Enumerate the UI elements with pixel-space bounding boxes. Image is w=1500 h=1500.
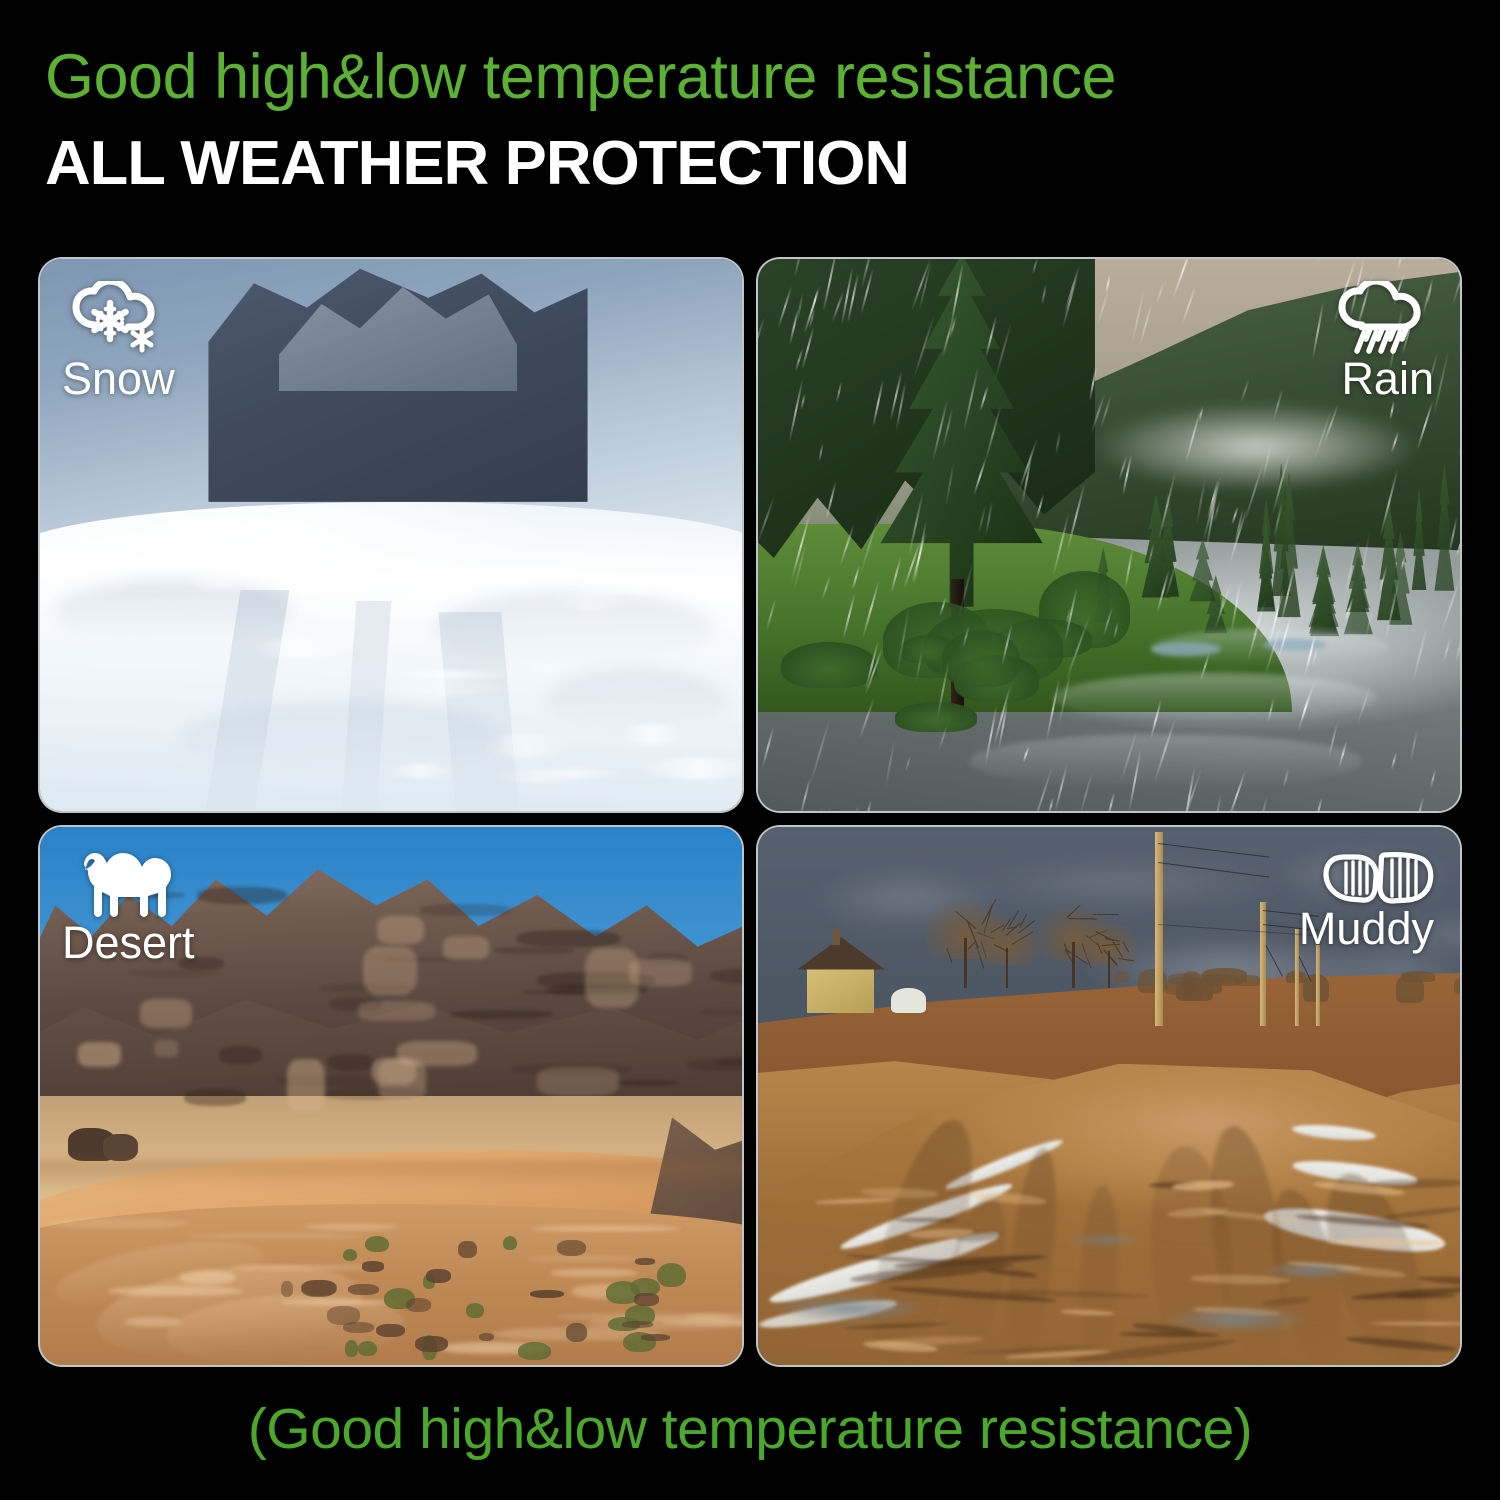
- scenery-detail: [154, 1040, 178, 1057]
- scenery-detail: [362, 1261, 384, 1271]
- scenery-detail: [1454, 977, 1460, 994]
- scenery-detail: [327, 1306, 360, 1325]
- scenery-detail: [328, 1054, 375, 1071]
- scenery-detail: [1138, 969, 1167, 994]
- scenery-detail: [479, 1333, 494, 1341]
- scenery-detail: [1401, 971, 1436, 982]
- scenery-detail: [969, 734, 1362, 789]
- weather-panel-desert: Desert: [40, 827, 742, 1365]
- scenery-detail: [517, 930, 620, 947]
- scenery-detail: [391, 591, 470, 614]
- scenery-detail: [219, 1046, 263, 1064]
- scenery-detail: [287, 1059, 325, 1112]
- scenery-detail: [553, 590, 627, 610]
- weather-panel-snow: Snow: [40, 259, 742, 811]
- scenery-detail: [54, 579, 293, 645]
- scenery-detail: [1316, 945, 1320, 1026]
- scenery-detail: [348, 1284, 379, 1295]
- scenery-detail: [376, 1324, 404, 1338]
- scenery-detail: [125, 1317, 182, 1327]
- weather-panel-grid: Snow: [40, 259, 1460, 1365]
- scenery-detail: [385, 764, 456, 778]
- scenery-detail: [472, 563, 586, 585]
- scenery-detail: [1069, 918, 1097, 919]
- scenery-detail: [1093, 914, 1119, 915]
- scenery-detail: [343, 1249, 357, 1261]
- scenery-detail: [229, 1265, 374, 1270]
- scenery-detail: [622, 1321, 653, 1328]
- weather-panel-rain: Rain: [758, 259, 1460, 811]
- scenery-detail: [358, 1341, 377, 1356]
- scenery-detail: [1260, 902, 1266, 1026]
- scenery-detail: [629, 959, 692, 986]
- badge-label-snow: Snow: [62, 356, 175, 401]
- scenery-detail: [180, 701, 503, 778]
- scenery-detail: [635, 1258, 655, 1264]
- scenery-detail: [684, 1313, 742, 1320]
- scenery-detail: [415, 1336, 448, 1352]
- scenery-detail: [363, 946, 417, 995]
- scenery-detail: [380, 680, 509, 695]
- scenery-detail: [494, 947, 575, 954]
- scenery-detail: [184, 1089, 246, 1106]
- scenery-detail: [140, 999, 192, 1029]
- scenery-detail: [458, 1241, 476, 1258]
- scenery-detail: [78, 1042, 120, 1067]
- scenery-detail: [781, 642, 877, 689]
- badge-desert: Desert: [66, 849, 195, 965]
- scenery-detail: [515, 662, 571, 672]
- scenery-detail: [1168, 973, 1207, 984]
- scenery-detail: [954, 852, 1296, 914]
- scenery-detail: [450, 1010, 553, 1020]
- scenery-detail: [1067, 1233, 1144, 1247]
- scenery-detail: [47, 1218, 188, 1229]
- scenery-detail: [358, 1001, 435, 1022]
- badge-rain: Rain: [1330, 281, 1434, 401]
- scenery-detail: [365, 1236, 388, 1252]
- scenery-detail: [566, 1323, 588, 1342]
- scenery-detail: [634, 1293, 659, 1305]
- badge-label-desert: Desert: [62, 920, 195, 965]
- scenery-detail: [130, 970, 216, 976]
- scenery-detail: [942, 630, 1020, 687]
- badge-snow: Snow: [66, 281, 175, 401]
- scenery-detail: [406, 1298, 431, 1312]
- scenery-detail: [503, 1236, 517, 1251]
- badge-label-muddy: Muddy: [1299, 906, 1434, 951]
- scenery-detail: [557, 1240, 586, 1256]
- scenery-detail: [832, 929, 840, 945]
- scenery-detail: [301, 1280, 336, 1297]
- scenery-detail: [281, 1281, 293, 1297]
- scenery-detail: [103, 1134, 138, 1161]
- scenery-detail: [383, 670, 515, 679]
- scenery-detail: [518, 1342, 552, 1359]
- bare-tree: [976, 918, 1039, 988]
- badge-label-rain: Rain: [1341, 356, 1434, 401]
- scenery-detail: [420, 904, 510, 917]
- scenery-detail: [426, 1269, 451, 1283]
- scenery-detail: [545, 668, 728, 734]
- scenery-detail: [1165, 1306, 1305, 1333]
- scenery-detail: [531, 1226, 681, 1231]
- camel-icon: [66, 849, 178, 926]
- scenery-detail: [657, 1263, 686, 1287]
- scenery-detail: [40, 1161, 742, 1188]
- scenery-detail: [772, 1295, 926, 1322]
- scenery-detail: [255, 638, 349, 659]
- scenery-detail: [185, 568, 249, 589]
- scenery-detail: [1263, 1261, 1361, 1279]
- scenery-detail: [528, 1256, 640, 1260]
- scenery-detail: [443, 936, 490, 960]
- cloud-rain-icon: [1330, 281, 1434, 362]
- scenery-detail: [483, 734, 567, 757]
- scenery-detail: [377, 916, 424, 944]
- weather-panel-muddy: Muddy: [758, 827, 1460, 1365]
- bare-tree: [1081, 924, 1137, 989]
- scenery-detail: [1235, 975, 1260, 986]
- scenery-detail: [1114, 971, 1128, 983]
- scenery-detail: [1263, 639, 1326, 651]
- scenery-detail: [891, 988, 926, 1012]
- headline-secondary: ALL WEATHER PROTECTION: [45, 133, 909, 195]
- scenery-detail: [807, 964, 874, 1012]
- scenery-detail: [466, 1303, 484, 1318]
- scenery-detail: [305, 1224, 399, 1230]
- scenery-detail: [537, 1067, 619, 1096]
- scenery-detail: [617, 1080, 678, 1086]
- scenery-detail: [895, 702, 977, 731]
- footer-caption: (Good high&low temperature resistance): [0, 1396, 1500, 1462]
- headline-primary: Good high&low temperature resistance: [45, 46, 1116, 109]
- scenery-detail: [1053, 673, 1376, 723]
- cloud-snow-icon: [66, 281, 170, 362]
- scenery-detail: [345, 1340, 358, 1357]
- scenery-detail: [397, 1041, 477, 1066]
- scenery-detail: [197, 887, 287, 905]
- badge-muddy: Muddy: [1299, 849, 1434, 951]
